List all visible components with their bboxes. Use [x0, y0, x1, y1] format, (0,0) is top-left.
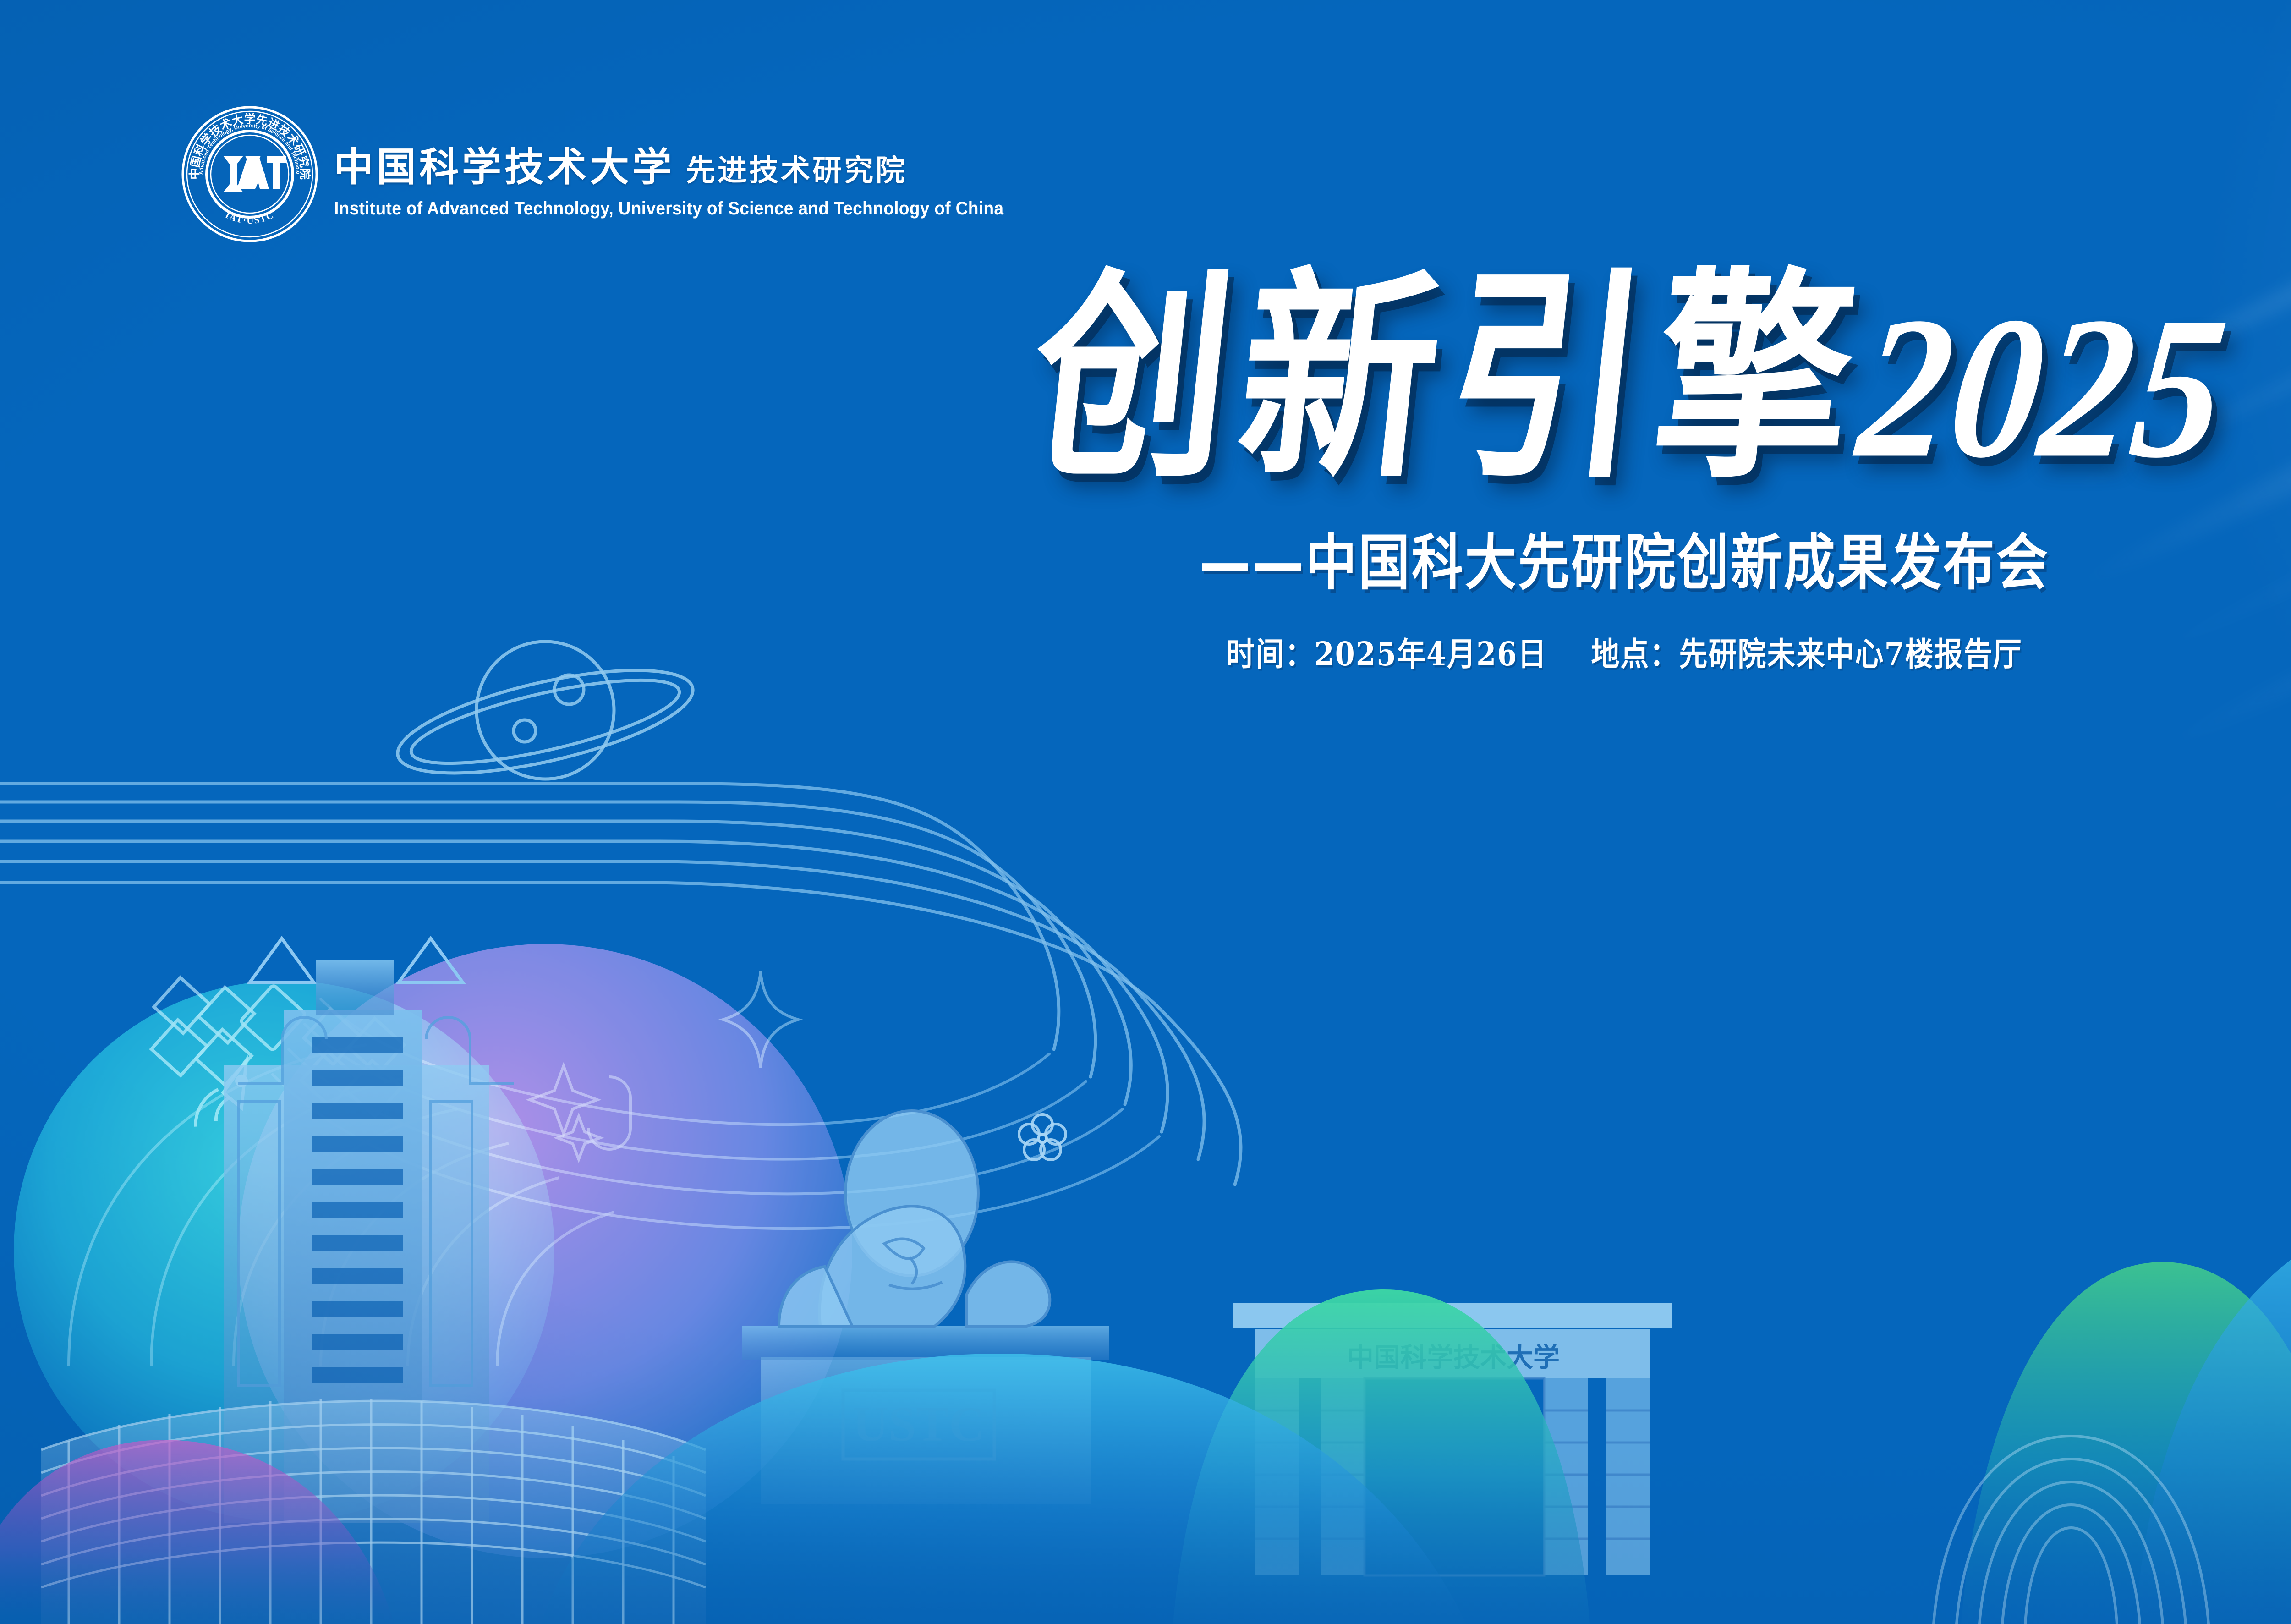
org-name-secondary: 先进技术研究院: [686, 147, 907, 189]
svg-text:IAT·USTC: IAT·USTC: [224, 209, 276, 226]
hero-title-year: 2025: [1850, 275, 2236, 499]
org-name-en: Institute of Advanced Technology, Univer…: [334, 198, 1003, 219]
brand-name-cn: 中国科学技术大学 先进技术研究院: [334, 135, 1054, 192]
hero-title-cn: 创新引擎: [1020, 247, 1876, 509]
hero-title-block: 创新引擎2025 ——中国科大先研院创新成果发布会 时间：2025年4月26日地…: [0, 280, 2291, 672]
meta-place-value: 先研院未来中心7楼报告厅: [1679, 635, 2022, 673]
hero-subtitle: ——中国科大先研院创新成果发布会: [1199, 514, 2050, 601]
brand-logo-block: 中国科学技术大学先进技术研究院 Institute of Advanced Te…: [181, 105, 1054, 243]
iat-ustc-emblem-icon: 中国科学技术大学先进技术研究院 Institute of Advanced Te…: [181, 105, 318, 243]
meta-time-value: 2025年4月26日: [1314, 635, 1547, 673]
meta-time-label: 时间：: [1226, 635, 1314, 673]
poster-canvas: USTC: [0, 0, 2291, 1624]
brand-logo-text: 中国科学技术大学 先进技术研究院 Institute of Advanced T…: [334, 129, 1054, 219]
hero-meta: 时间：2025年4月26日地点：先研院未来中心7楼报告厅: [1226, 628, 2022, 675]
org-name-primary: 中国科学技术大学: [334, 135, 675, 192]
hero-title: 创新引擎2025: [1011, 267, 2237, 489]
meta-place-label: 地点：: [1591, 635, 1679, 673]
vignette: [0, 0, 2291, 1624]
